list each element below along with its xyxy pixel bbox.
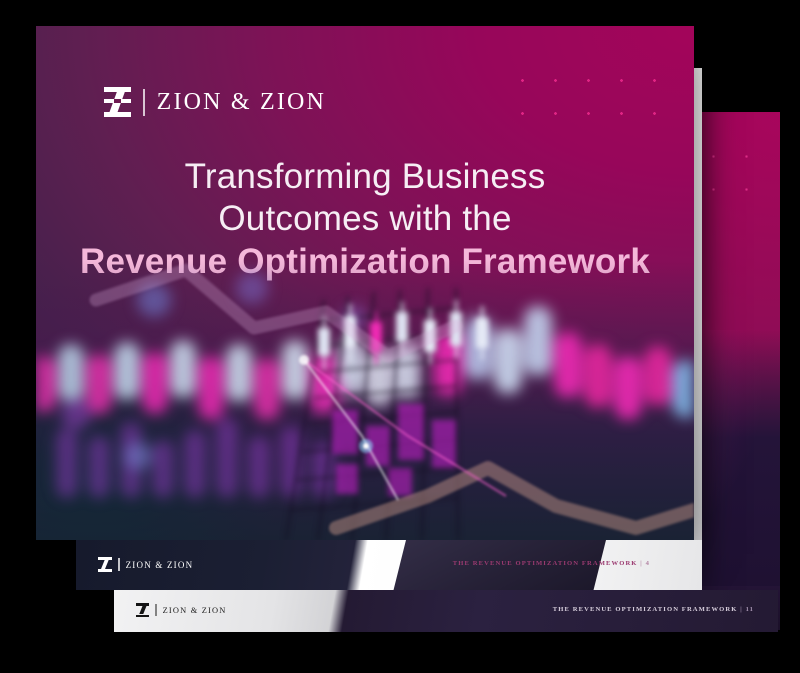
page-number: 11 [746, 606, 754, 613]
page-number: 4 [646, 560, 650, 567]
brand-wordmark: ZION & ZION [163, 606, 227, 615]
brand-wordmark: ZION & ZION [157, 89, 327, 116]
brand-wordmark: ZION & ZION [126, 560, 194, 570]
footer-separator: | [740, 606, 743, 613]
title-line-2: Outcomes with the [36, 198, 694, 240]
footer-separator: | [640, 560, 643, 567]
dot-pattern-decoration [506, 64, 666, 136]
artwork-glow-layer [36, 260, 694, 540]
title-line-1: Transforming Business [36, 156, 694, 198]
logo-divider [143, 89, 145, 116]
glow-svg [36, 260, 694, 540]
slide-strip-page-11[interactable]: ZION & ZION THE REVENUE OPTIMIZATION FRA… [114, 590, 778, 632]
abstract-financial-chart-image [36, 260, 694, 540]
slide-stack-stage: ZION & ZION THE REVENUE OPTIMIZATION FRA… [0, 0, 800, 673]
slide-card-main-title[interactable]: ZION & ZION Transforming Business Outcom… [36, 26, 694, 540]
brand-logo: ZION & ZION [136, 603, 227, 617]
slide-footer-caption: THE REVENUE OPTIMIZATION FRAMEWORK | 11 [553, 606, 754, 613]
footer-title: THE REVENUE OPTIMIZATION FRAMEWORK [453, 560, 638, 567]
brand-logo: ZION & ZION [104, 87, 326, 117]
z-monogram-icon [136, 603, 149, 617]
brand-logo: ZION & ZION [98, 557, 193, 572]
z-monogram-icon [104, 87, 131, 117]
z-monogram-icon [98, 557, 112, 572]
slide-footer-caption: THE REVENUE OPTIMIZATION FRAMEWORK | 4 [453, 560, 650, 567]
footer-title: THE REVENUE OPTIMIZATION FRAMEWORK [553, 606, 738, 613]
logo-divider [155, 604, 157, 616]
logo-divider [118, 558, 120, 571]
slide-strip-page-4[interactable]: ZION & ZION THE REVENUE OPTIMIZATION FRA… [76, 540, 702, 590]
